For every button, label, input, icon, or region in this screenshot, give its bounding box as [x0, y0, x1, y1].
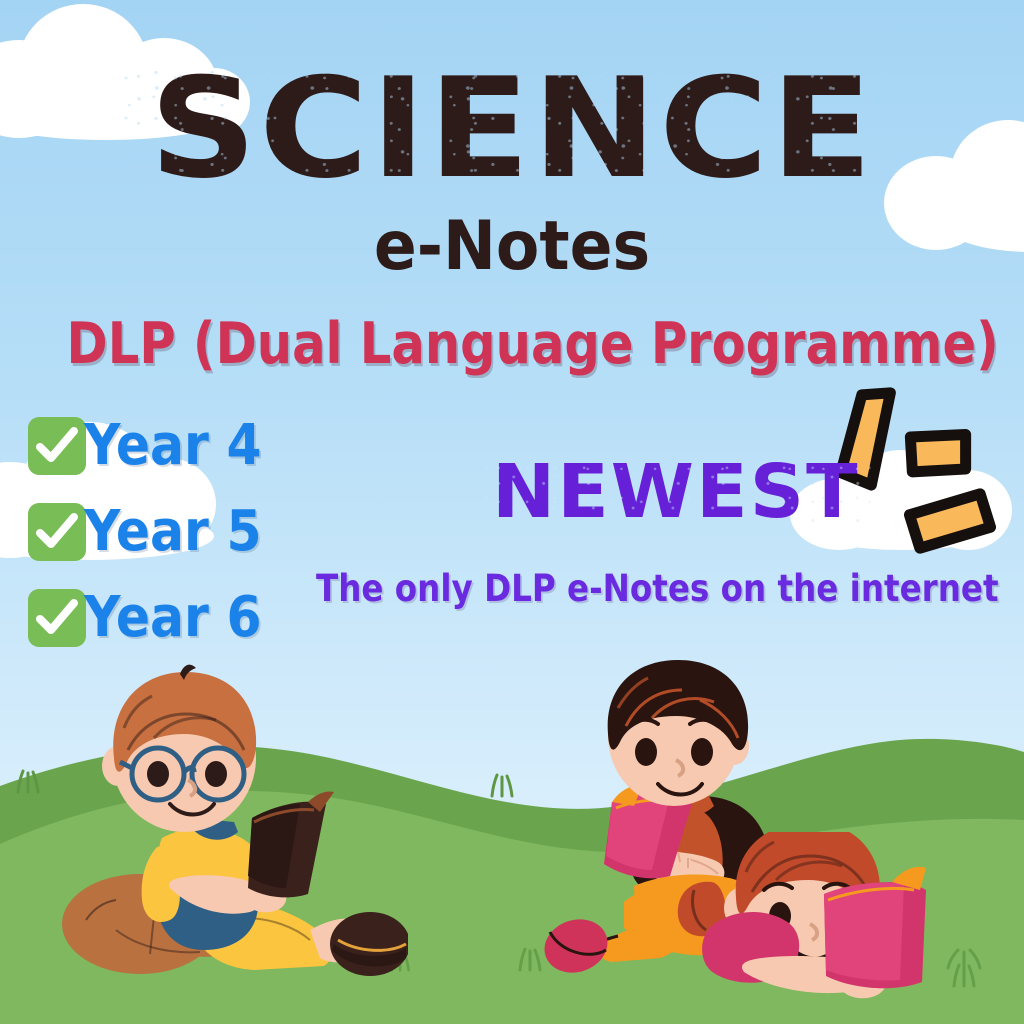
checklist-label: Year 5: [84, 504, 262, 560]
status-badge: NEWEST: [492, 455, 860, 529]
title-text: SCIENCE: [149, 60, 874, 198]
programme-label: DLP (Dual Language Programme): [67, 316, 958, 373]
checklist-item-year-4[interactable]: Year 4: [28, 410, 281, 482]
tagline: The only DLP e-Notes on the internet: [316, 570, 999, 607]
badge-text: NEWEST: [492, 455, 860, 529]
check-icon[interactable]: [28, 503, 86, 561]
check-icon[interactable]: [28, 417, 86, 475]
grass-tuft-icon: [486, 772, 520, 803]
illustration-girl-with-ponytail: [624, 832, 1024, 1024]
checklist-item-year-5[interactable]: Year 5: [28, 496, 281, 568]
checklist-item-year-6[interactable]: Year 6: [28, 582, 281, 654]
grass-tuft-icon: [12, 768, 46, 799]
illustration-boy-with-glasses: [58, 662, 408, 987]
page-subtitle: e-Notes: [36, 213, 988, 281]
checklist-label: Year 6: [84, 590, 262, 646]
checklist-label: Year 4: [84, 418, 262, 474]
page-title: SCIENCE: [0, 60, 1024, 198]
check-icon[interactable]: [28, 589, 86, 647]
year-checklist: Year 4 Year 5 Year 6: [28, 410, 281, 668]
poster-canvas: SCIENCE e-Notes DLP (Dual Language Progr…: [0, 0, 1024, 1024]
